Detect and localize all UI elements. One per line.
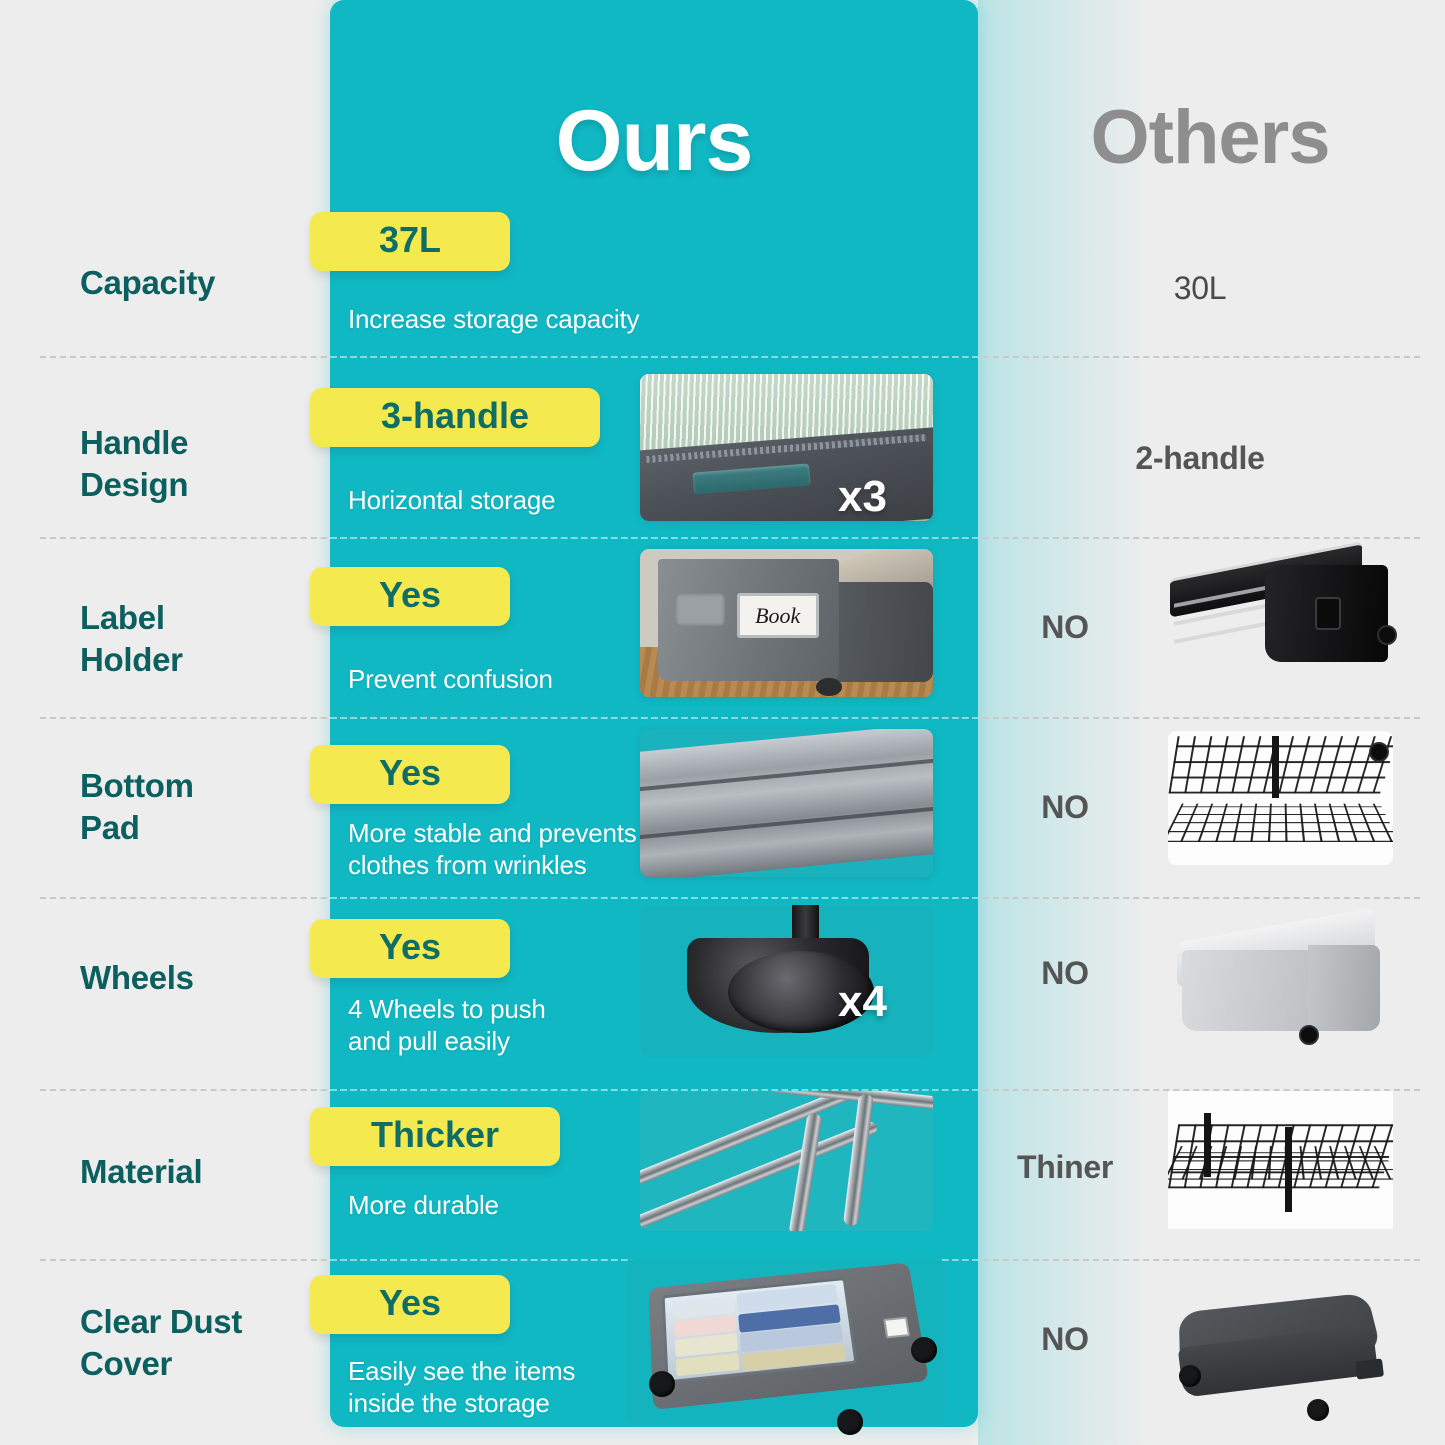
ours-photo-clear-dust-cover	[625, 1259, 945, 1425]
others-photo-label-holder	[1165, 555, 1393, 685]
photo-detail	[1307, 1399, 1329, 1421]
ours-photo-label-holder: Book	[640, 549, 933, 697]
feature-label-line: Wheels	[80, 957, 330, 999]
photo-detail	[1285, 1127, 1292, 1213]
feature-label-line: Holder	[80, 639, 330, 681]
photo-detail	[883, 1316, 910, 1339]
others-value-wheels: NO	[955, 955, 1175, 992]
photo-detail	[1355, 1358, 1384, 1379]
feature-label-capacity: Capacity	[80, 262, 330, 304]
photo-detail	[911, 1337, 937, 1363]
feature-label-material: Material	[80, 1151, 330, 1193]
ours-note-label-holder: Prevent confusion	[348, 663, 678, 695]
ours-photo-handle-design	[640, 374, 933, 521]
photo-detail	[675, 593, 725, 626]
photo-detail	[1204, 1113, 1211, 1176]
photo-detail	[1168, 737, 1393, 794]
photo-detail	[789, 1113, 823, 1231]
others-photo-wheels	[1168, 911, 1393, 1051]
feature-label-label-holder: Label Holder	[80, 597, 330, 680]
feature-label-line: Capacity	[80, 262, 330, 304]
ours-note-line: Horizontal storage	[348, 484, 678, 516]
table-row: Material Thicker More durable Thiner	[0, 1089, 1445, 1259]
others-photo-bottom-pad	[1168, 731, 1393, 865]
ours-note-line: Increase storage capacity	[348, 303, 768, 335]
photo-detail	[1272, 736, 1279, 798]
others-value-handle-design: 2-handle	[1090, 440, 1310, 477]
ours-note-wheels: 4 Wheels to push and pull easily	[348, 993, 678, 1057]
photo-detail	[816, 678, 842, 696]
ours-value-badge-bottom-pad: Yes	[310, 745, 510, 804]
photo-detail	[662, 1277, 857, 1384]
photo-detail	[1168, 803, 1393, 842]
feature-label-wheels: Wheels	[80, 957, 330, 999]
comparison-chart: Ours Others Capacity 37L Increase storag…	[0, 0, 1445, 1445]
photo-detail	[640, 729, 933, 877]
photo-detail	[1168, 803, 1393, 842]
photo-detail	[1179, 1365, 1201, 1387]
photo-detail	[1168, 737, 1393, 794]
ours-value-badge-label-holder: Yes	[310, 567, 510, 626]
ours-note-capacity: Increase storage capacity	[348, 303, 768, 335]
others-value-material: Thiner	[955, 1149, 1175, 1186]
ours-value-badge-material: Thicker	[310, 1107, 560, 1166]
feature-label-line: Label	[80, 597, 330, 639]
photo-detail	[843, 1093, 874, 1225]
ours-value-badge-wheels: Yes	[310, 919, 510, 978]
ours-note-line: and pull easily	[348, 1025, 678, 1057]
table-row: Handle Design 3-handle Horizontal storag…	[0, 356, 1445, 537]
ours-multiplier-handle-design: x3	[838, 472, 887, 522]
ours-photo-material	[640, 1091, 933, 1231]
photo-detail	[1168, 1124, 1393, 1188]
photo-detail	[1308, 945, 1380, 1032]
photo-detail	[1369, 742, 1389, 762]
ours-note-line: More durable	[348, 1189, 678, 1221]
photo-detail	[640, 1120, 879, 1231]
others-photo-material	[1168, 1091, 1393, 1229]
feature-label-line: Design	[80, 464, 330, 506]
photo-detail	[1174, 621, 1274, 644]
ours-value-badge-handle-design: 3-handle	[310, 388, 600, 447]
photo-detail	[1315, 597, 1340, 631]
table-row: Bottom Pad Yes More stable and prevents …	[0, 717, 1445, 897]
table-row: Label Holder Yes Prevent confusion Book …	[0, 537, 1445, 717]
photo-detail	[1377, 625, 1397, 645]
others-photo-clear-dust-cover	[1155, 1277, 1400, 1425]
photo-detail	[1299, 1025, 1319, 1045]
photo-detail	[1168, 1124, 1393, 1188]
others-value-label-holder: NO	[955, 609, 1175, 646]
photo-label-book: Book	[737, 593, 819, 637]
feature-label-line: Bottom	[80, 765, 330, 807]
ours-note-handle-design: Horizontal storage	[348, 484, 678, 516]
table-row: Wheels Yes 4 Wheels to push and pull eas…	[0, 897, 1445, 1089]
photo-detail	[648, 1263, 928, 1410]
ours-photo-bottom-pad	[640, 729, 933, 877]
ours-value-badge-capacity: 37L	[310, 212, 510, 271]
feature-label-line: Handle	[80, 422, 330, 464]
photo-detail	[649, 1371, 675, 1397]
ours-photo-wheels	[640, 905, 933, 1057]
others-value-capacity: 30L	[1090, 270, 1310, 307]
ours-note-line: 4 Wheels to push	[348, 993, 678, 1025]
feature-label-handle-design: Handle Design	[80, 422, 330, 505]
ours-value-badge-clear-dust-cover: Yes	[310, 1275, 510, 1334]
feature-label-line: Cover	[80, 1343, 350, 1385]
feature-label-line: Material	[80, 1151, 330, 1193]
feature-label-bottom-pad: Bottom Pad	[80, 765, 330, 848]
photo-detail	[837, 1409, 863, 1435]
ours-note-line: Prevent confusion	[348, 663, 678, 695]
table-row: Clear Dust Cover Yes Easily see the item…	[0, 1259, 1445, 1445]
others-value-clear-dust-cover: NO	[955, 1321, 1175, 1358]
ours-note-material: More durable	[348, 1189, 678, 1221]
others-value-bottom-pad: NO	[955, 789, 1175, 826]
table-row: Capacity 37L Increase storage capacity 3…	[0, 0, 1445, 355]
photo-detail	[675, 1353, 739, 1377]
feature-label-line: Pad	[80, 807, 330, 849]
ours-multiplier-wheels: x4	[838, 977, 887, 1027]
